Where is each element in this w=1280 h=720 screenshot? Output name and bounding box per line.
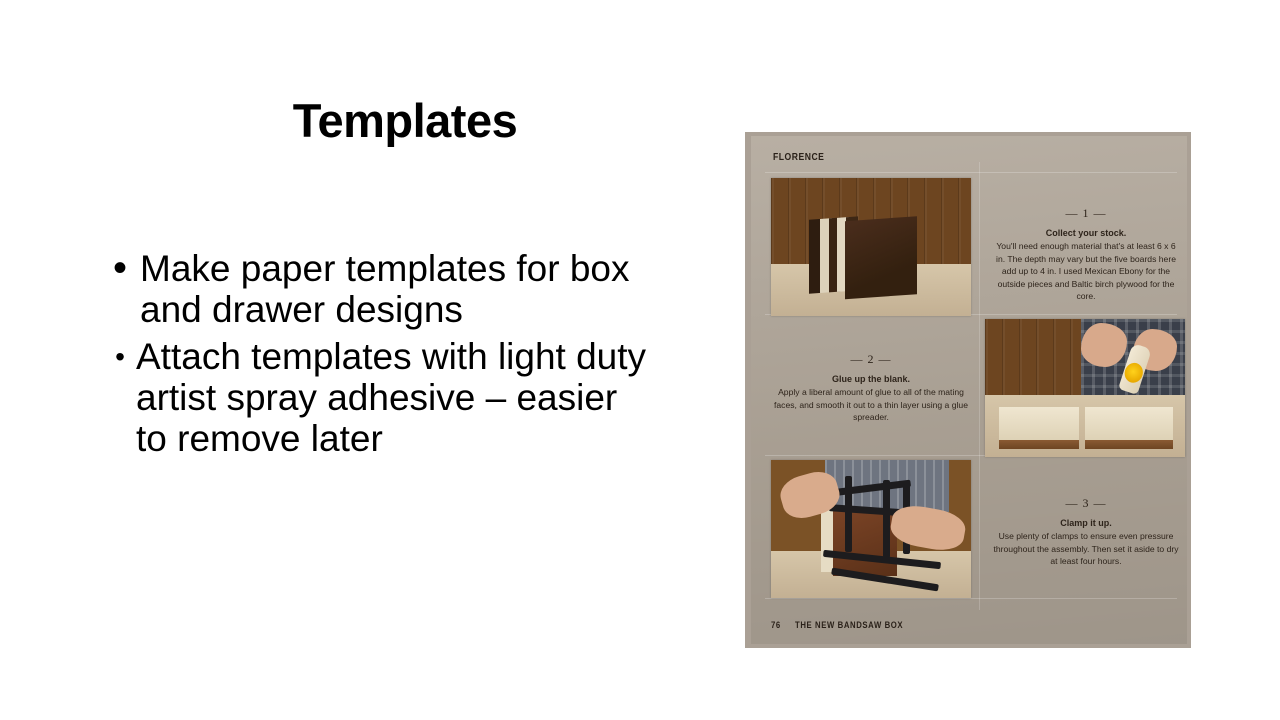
page-number: 76 [771,620,781,630]
step-number: — 3 — [991,496,1181,511]
step-heading: Clamp it up. [991,518,1181,528]
page-rule [765,172,1177,173]
glue-board-left [999,407,1079,449]
list-item-label: Attach templates with light duty artist … [136,336,656,459]
step-body-text: You'll need enough material that's at le… [991,240,1181,303]
step-1-photo [771,178,971,316]
page-footer: 76 THE NEW BANDSAW BOX [771,620,921,630]
glue-board-right [1085,407,1173,449]
step-3-caption: — 3 — Clamp it up. Use plenty of clamps … [991,496,1181,568]
bullet-list: • Make paper templates for box and drawe… [100,248,700,459]
step-heading: Glue up the blank. [773,374,969,384]
step-1-caption: — 1 — Collect your stock. You'll need en… [991,206,1181,303]
step-number: — 2 — [773,352,969,367]
page-rule [765,598,1177,599]
step-2-caption: — 2 — Glue up the blank. Apply a liberal… [773,352,969,424]
book-title: THE NEW BANDSAW BOX [795,620,903,630]
page-rule [979,162,980,610]
blank-front-face [845,216,917,299]
step-2-photo [985,319,1185,457]
list-item-label: Make paper templates for box and drawer … [140,248,630,330]
chapter-label: FLORENCE [773,152,824,163]
laminated-blank [809,212,917,302]
book-page-surface: FLORENCE — 1 — Collect your stock. You'l… [751,136,1187,644]
step-body-text: Apply a liberal amount of glue to all of… [773,386,969,424]
clamp-jaw [845,476,852,552]
bullet-point-icon: • [100,248,140,289]
step-body-text: Use plenty of clamps to ensure even pres… [991,530,1181,568]
step-number: — 1 — [991,206,1181,221]
step-heading: Collect your stock. [991,228,1181,238]
step-3-photo [771,460,971,598]
clamp-jaw [883,480,890,558]
list-item: • Make paper templates for box and drawe… [100,248,700,330]
page-title: Templates [0,93,810,148]
book-page-image: FLORENCE — 1 — Collect your stock. You'l… [745,132,1191,648]
list-item: • Attach templates with light duty artis… [100,336,700,459]
bullet-point-icon: • [104,336,136,377]
